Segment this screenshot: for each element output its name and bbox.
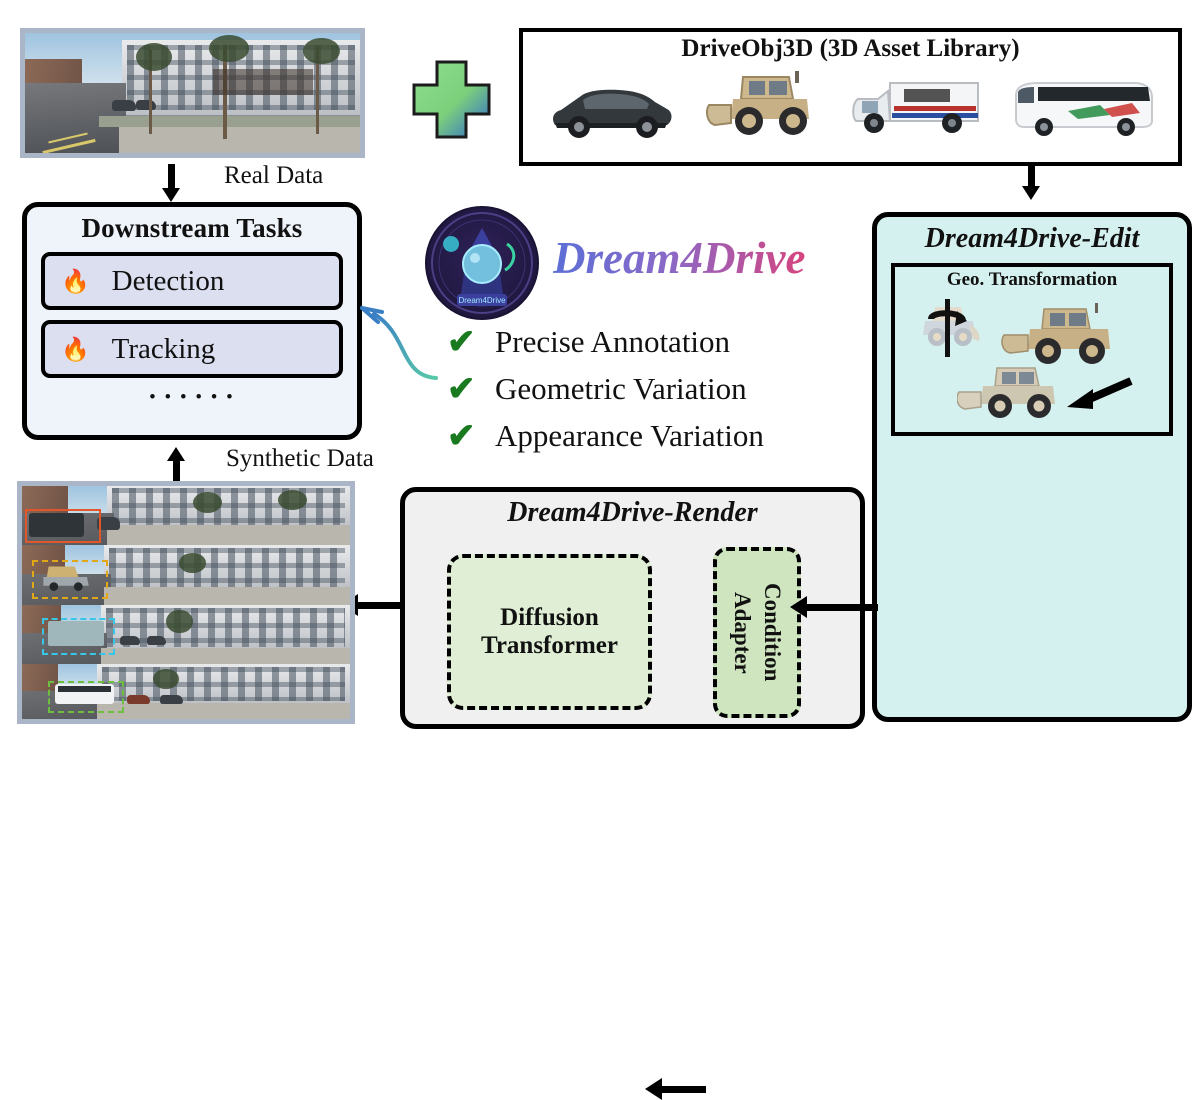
feature-item: ✔ Geometric Variation bbox=[447, 369, 837, 409]
diffusion-transformer-box: Diffusion Transformer bbox=[447, 554, 652, 710]
diffusion-line-2: Transformer bbox=[481, 632, 618, 660]
fire-icon: 🔥 bbox=[61, 338, 90, 361]
synthetic-row bbox=[22, 545, 350, 604]
svg-text:Dream4Drive: Dream4Drive bbox=[458, 296, 506, 305]
edit-panel: Dream4Drive-Edit Geo. Transformation bbox=[872, 212, 1192, 722]
check-icon: ✔ bbox=[447, 322, 495, 362]
feature-list: ✔ Precise Annotation ✔ Geometric Variati… bbox=[447, 322, 837, 456]
transform-arrow bbox=[1063, 375, 1135, 417]
task-item-detection[interactable]: 🔥 Detection bbox=[41, 252, 343, 310]
coach-bus-asset bbox=[1008, 75, 1158, 141]
check-icon: ✔ bbox=[447, 369, 495, 409]
loader-transformed bbox=[957, 362, 1069, 424]
feature-label: Precise Annotation bbox=[495, 324, 730, 360]
loader-large bbox=[1000, 301, 1125, 371]
feature-item: ✔ Appearance Variation bbox=[447, 416, 837, 456]
synthetic-data-caption: Synthetic Data bbox=[226, 445, 374, 473]
task-label: Tracking bbox=[112, 333, 216, 366]
geo-transformation-box: Geo. Transformation bbox=[891, 263, 1173, 436]
adapter-line-1: Condition bbox=[760, 583, 785, 681]
synthetic-data-image bbox=[17, 481, 355, 724]
check-icon: ✔ bbox=[447, 416, 495, 456]
task-label: Detection bbox=[112, 265, 225, 298]
brand-logo-icon: Dream4Drive bbox=[425, 206, 539, 320]
task-item-tracking[interactable]: 🔥 Tracking bbox=[41, 320, 343, 378]
real-data-image bbox=[20, 28, 365, 158]
synthetic-row bbox=[22, 486, 350, 545]
downstream-tasks-panel: Downstream Tasks 🔥 Detection 🔥 Tracking … bbox=[22, 202, 362, 440]
condition-adapter-box[interactable]: Condition Adapter bbox=[713, 547, 801, 718]
feature-item: ✔ Precise Annotation bbox=[447, 322, 837, 362]
synthetic-row bbox=[22, 664, 350, 719]
diffusion-line-1: Diffusion bbox=[500, 604, 599, 632]
brand-title: Dream4Drive bbox=[553, 232, 805, 284]
loader-small-rotating bbox=[907, 299, 989, 361]
task-ellipsis: • • • • • • bbox=[27, 387, 357, 409]
sedan-car-asset bbox=[543, 79, 678, 141]
wheel-loader-asset bbox=[703, 65, 823, 141]
fire-icon: 🔥 bbox=[61, 270, 90, 293]
asset-library-title: DriveObj3D (3D Asset Library) bbox=[523, 35, 1178, 63]
render-panel-title: Dream4Drive-Render bbox=[405, 497, 860, 529]
real-data-caption: Real Data bbox=[224, 162, 323, 190]
feature-label: Geometric Variation bbox=[495, 371, 747, 407]
plus-icon bbox=[404, 52, 499, 147]
feature-label: Appearance Variation bbox=[495, 418, 764, 454]
box-truck-asset bbox=[848, 73, 983, 141]
geo-transformation-title: Geo. Transformation bbox=[895, 269, 1169, 291]
asset-library-panel: DriveObj3D (3D Asset Library) bbox=[519, 28, 1182, 166]
adapter-line-2: Adapter bbox=[730, 592, 755, 674]
synthetic-row bbox=[22, 605, 350, 664]
page-title: Downstream Tasks bbox=[27, 213, 357, 244]
edit-panel-title: Dream4Drive-Edit bbox=[877, 223, 1187, 255]
